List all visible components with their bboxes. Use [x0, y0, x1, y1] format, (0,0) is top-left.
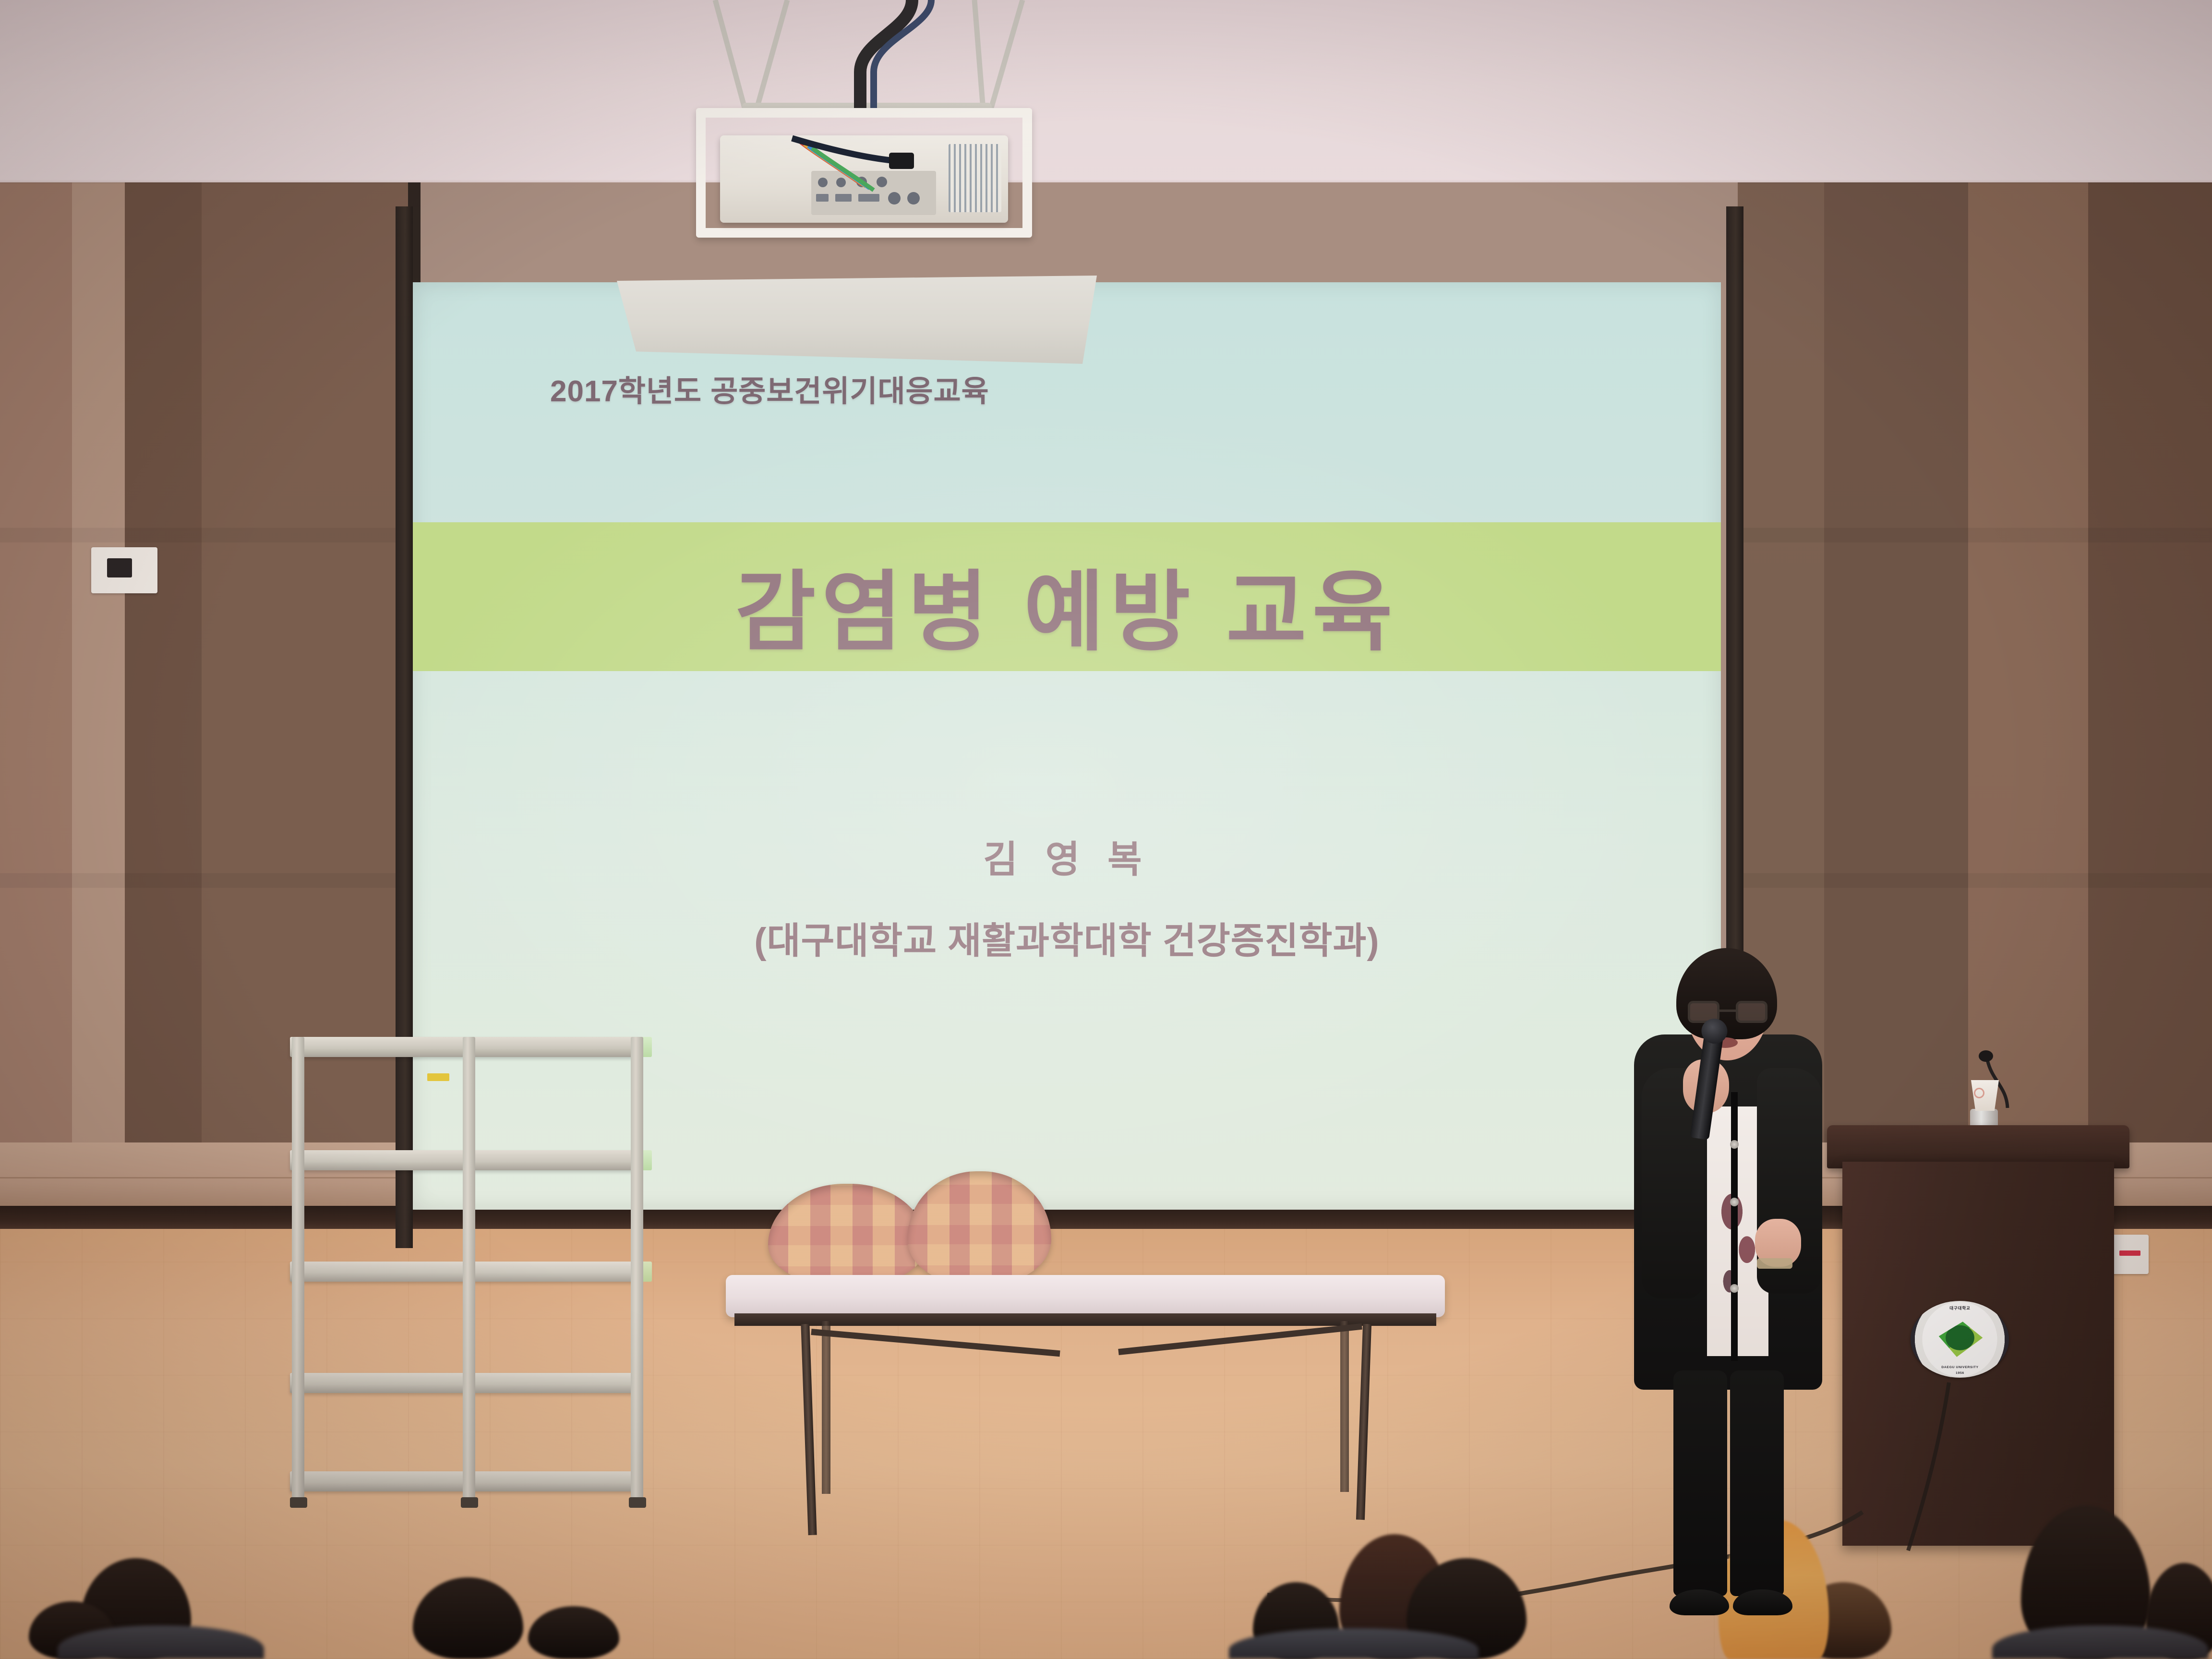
presenter-glasses	[1688, 1001, 1767, 1024]
presenter-right-leg	[1730, 1370, 1784, 1596]
projector-body	[720, 135, 1008, 223]
switch-indicator	[2119, 1250, 2140, 1256]
cardigan-button-3	[1730, 1284, 1739, 1293]
left-wall-outlet-plate[interactable]	[91, 547, 157, 593]
presenter-left-leg	[1673, 1370, 1727, 1596]
shelf-yellow-tag	[427, 1073, 449, 1081]
slide-affiliation-text: (대구대학교 재활과학대학 건강증진학과)	[413, 911, 1721, 964]
shelf-foot-right	[629, 1497, 646, 1508]
shelf-post-middle	[463, 1037, 475, 1500]
folding-table-top	[726, 1275, 1445, 1317]
daegu-university-emblem: 대구대학교 DAEGU UNIVERSITY 1956	[1911, 1301, 2009, 1378]
table-leg-back-right	[1340, 1321, 1349, 1492]
shelf-foot-middle	[461, 1497, 478, 1508]
lecture-hall-photo: 2017학년도 공중보건위기대응교육 감염병 예방 교육 김 영 복 (대구대학…	[0, 0, 2212, 1659]
wall-panel-8	[2088, 182, 2212, 1229]
presenter-hair	[1676, 948, 1777, 1039]
projector-light-baffle	[617, 276, 1097, 364]
projector-port-panel	[811, 171, 936, 215]
table-leg-back-left	[822, 1321, 830, 1494]
emblem-top-text: 대구대학교	[1949, 1305, 1970, 1311]
cardigan-placket	[1731, 1092, 1738, 1361]
slide-author-text: 김 영 복	[413, 829, 1721, 883]
metal-shelving-rack	[287, 1037, 651, 1500]
shelf-foot-left	[290, 1497, 307, 1508]
projector-vent-grille	[949, 144, 1001, 212]
wall-mounted-device	[107, 558, 132, 577]
presenter	[1613, 948, 1863, 1635]
slide-kicker-text: 2017학년도 공중보건위기대응교육	[550, 367, 989, 410]
cup-logo	[1974, 1088, 1984, 1098]
ceiling	[0, 0, 2212, 192]
wall-panel-2	[125, 182, 202, 1229]
emblem-year-text: 1956	[1956, 1371, 1964, 1374]
shelf-post-right	[631, 1037, 643, 1500]
right-wall-switch-plate[interactable]	[2111, 1235, 2149, 1274]
cardigan-button-2	[1730, 1198, 1739, 1206]
presenter-wristwatch	[1757, 1258, 1792, 1269]
folding-table-apron	[734, 1313, 1436, 1326]
emblem-bottom-text: DAEGU UNIVERSITY	[1941, 1365, 1978, 1369]
ceiling-projector-assembly	[643, 0, 1075, 298]
cardigan-button-1	[1730, 1140, 1739, 1149]
emblem-lettering: 대구대학교 DAEGU UNIVERSITY 1956	[1911, 1301, 2009, 1378]
shelf-post-left	[292, 1037, 304, 1500]
wall-panel-0	[0, 182, 72, 1229]
slide-title-text: 감염병 예방 교육	[413, 541, 1721, 668]
wall-panel-1	[72, 182, 125, 1229]
